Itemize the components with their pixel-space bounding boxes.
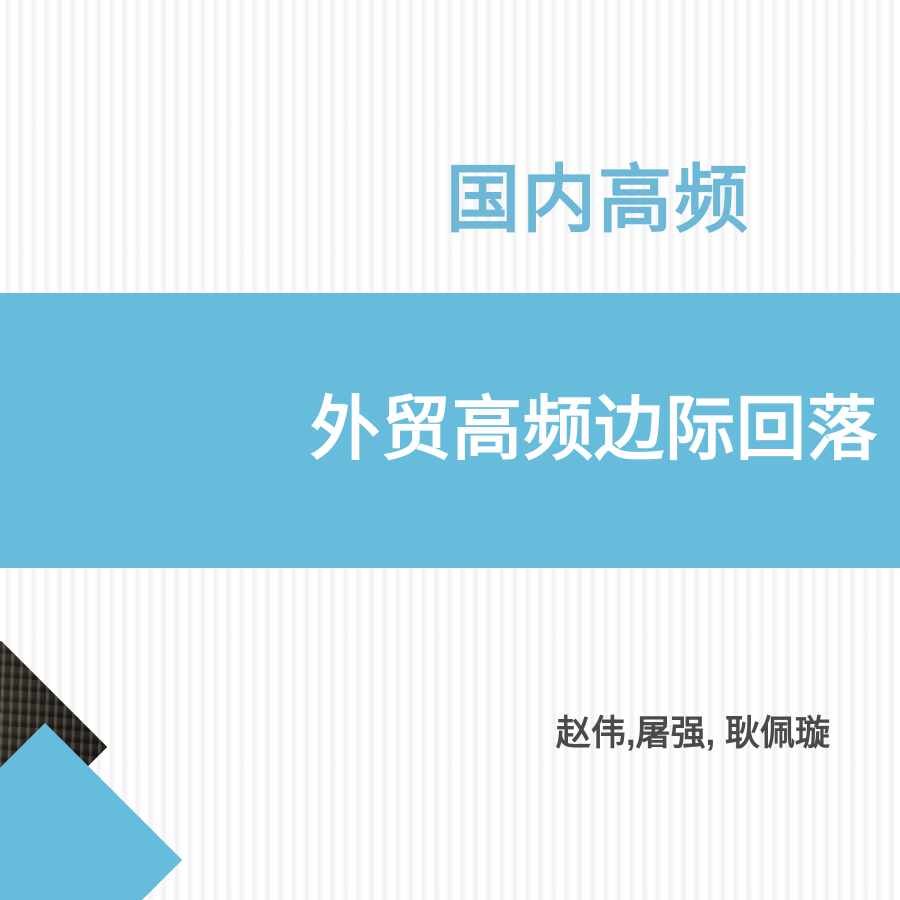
authors-byline: 赵伟,屠强, 耿佩璇 bbox=[556, 716, 830, 751]
headline-banner: 外贸高频边际回落 bbox=[0, 293, 900, 568]
slide-title-block: 国内高频 bbox=[0, 150, 750, 250]
headline-text: 外贸高频边际回落 bbox=[310, 394, 878, 464]
headline-banner-inner: 外贸高频边际回落 bbox=[0, 293, 878, 568]
page-title: 国内高频 bbox=[446, 163, 750, 237]
presentation-slide: 国内高频 外贸高频边际回落 赵伟,屠强, 耿佩璇 bbox=[0, 0, 900, 900]
authors-block: 赵伟,屠强, 耿佩璇 bbox=[0, 706, 830, 760]
